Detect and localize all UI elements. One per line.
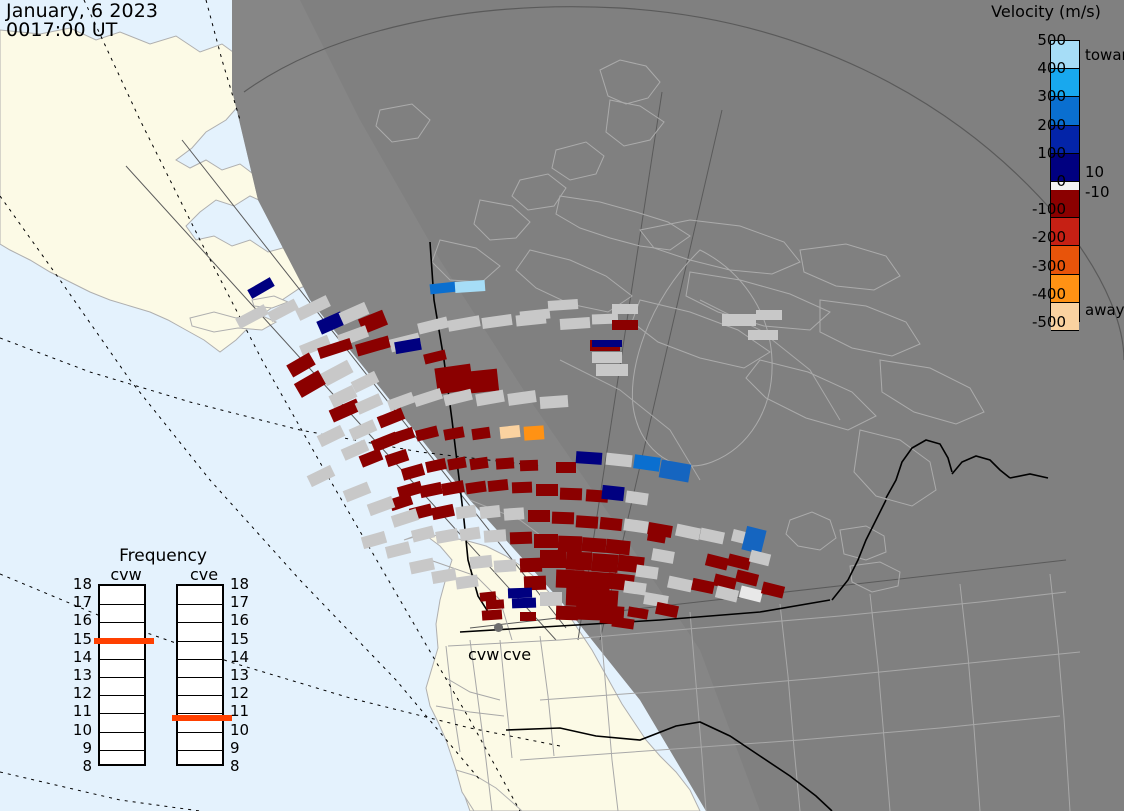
- colorbar-tick-label: 100: [1037, 144, 1066, 162]
- velocity-cell: [496, 457, 515, 469]
- frequency-gridline: [178, 622, 222, 623]
- frequency-tick-label: 12: [70, 684, 92, 702]
- frequency-tick-label: 15: [70, 630, 92, 648]
- velocity-cell: [596, 364, 628, 376]
- colorbar-toward-label: toward: [1085, 46, 1124, 64]
- velocity-cell: [479, 505, 500, 519]
- colorbar-tick-label: -200: [1032, 228, 1066, 246]
- frequency-gridline: [178, 641, 222, 642]
- colorbar-tick-label: -400: [1032, 285, 1066, 303]
- title-block: January, 6 2023 0017:00 UT: [6, 2, 158, 41]
- velocity-cell: [540, 592, 562, 606]
- frequency-gridline: [178, 659, 222, 660]
- velocity-cell: [556, 462, 576, 473]
- velocity-cell: [601, 485, 624, 501]
- colorbar-tick-label: 300: [1037, 87, 1066, 105]
- frequency-gridline: [178, 604, 222, 605]
- velocity-cell: [576, 515, 599, 529]
- velocity-cell: [520, 558, 542, 573]
- frequency-gridline: [100, 732, 144, 733]
- velocity-cell: [508, 588, 532, 599]
- velocity-cell: [612, 304, 638, 314]
- velocity-cell: [581, 571, 610, 591]
- frequency-title: Frequency: [88, 546, 238, 566]
- velocity-cell: [591, 553, 618, 573]
- velocity-cell: [605, 539, 630, 555]
- velocity-cell: [536, 484, 558, 496]
- frequency-tick-label: 10: [230, 721, 252, 739]
- radar-site-label-cvw: cvw: [468, 645, 499, 664]
- frequency-gridline: [100, 622, 144, 623]
- frequency-tick-label: 17: [230, 593, 252, 611]
- frequency-gridline: [100, 659, 144, 660]
- frequency-tick-label: 8: [230, 757, 252, 775]
- velocity-cell: [556, 606, 578, 621]
- colorbar-tick-label: 200: [1037, 116, 1066, 134]
- radar-site-dot: [494, 623, 503, 632]
- velocity-cell: [599, 517, 622, 531]
- colorbar-positive-threshold: 10: [1085, 163, 1104, 181]
- frequency-tick-label: 17: [70, 593, 92, 611]
- velocity-cell: [591, 589, 618, 607]
- velocity-cell: [756, 310, 782, 320]
- superdarn-velocity-map: January, 6 2023 0017:00 UT Velocity (m/s…: [0, 0, 1124, 811]
- velocity-cell: [540, 550, 566, 568]
- frequency-tick-label: 13: [230, 666, 252, 684]
- frequency-tick-label: 13: [70, 666, 92, 684]
- colorbar-tick-label: -500: [1032, 313, 1066, 331]
- velocity-cell: [556, 570, 585, 589]
- frequency-bar: [98, 584, 146, 766]
- velocity-cell: [494, 559, 517, 573]
- colorbar-tick-label: 500: [1037, 31, 1066, 49]
- velocity-cell: [558, 536, 583, 553]
- velocity-cell: [612, 320, 638, 330]
- velocity-cell: [499, 425, 520, 439]
- velocity-cell: [528, 510, 550, 522]
- frequency-gridline: [178, 732, 222, 733]
- velocity-cell: [510, 532, 532, 545]
- frequency-gridline: [100, 750, 144, 751]
- velocity-cell: [582, 537, 607, 553]
- frequency-tick-label: 18: [70, 575, 92, 593]
- frequency-tick-label: 15: [230, 630, 252, 648]
- frequency-gridline: [100, 604, 144, 605]
- frequency-tick-label: 8: [70, 757, 92, 775]
- velocity-cell: [520, 612, 536, 621]
- radar-site-label-cve: cve: [503, 645, 531, 664]
- velocity-cell: [548, 299, 579, 311]
- velocity-cell: [576, 451, 603, 465]
- frequency-column-cve: cve18171615141312111098: [176, 584, 224, 766]
- velocity-cell: [504, 507, 525, 520]
- frequency-column-label: cve: [176, 565, 232, 584]
- velocity-cell: [576, 604, 603, 621]
- frequency-tick-label: 14: [230, 648, 252, 666]
- velocity-cell: [566, 588, 595, 607]
- velocity-cell: [524, 425, 545, 440]
- velocity-cell: [512, 598, 536, 609]
- velocity-cell: [600, 613, 621, 625]
- velocity-cell: [540, 395, 569, 409]
- velocity-cell: [560, 488, 582, 501]
- velocity-colorbar: Velocity (m/s) 5004003002001000-100-200-…: [980, 0, 1124, 345]
- velocity-cell: [748, 330, 778, 340]
- frequency-tick-label: 14: [70, 648, 92, 666]
- velocity-cell: [480, 591, 497, 602]
- frequency-tick-label: 11: [70, 702, 92, 720]
- frequency-tick-label: 9: [230, 739, 252, 757]
- velocity-cell: [487, 479, 508, 492]
- colorbar-tick-label: -300: [1032, 257, 1066, 275]
- colorbar-away-label: away: [1085, 301, 1124, 319]
- frequency-gridline: [178, 677, 222, 678]
- velocity-cell: [534, 534, 558, 548]
- frequency-tick-label: 10: [70, 721, 92, 739]
- velocity-cell: [722, 314, 756, 326]
- frequency-gridline: [178, 750, 222, 751]
- velocity-cell: [520, 460, 538, 472]
- colorbar-negative-threshold: -10: [1085, 183, 1110, 201]
- colorbar-title: Velocity (m/s): [976, 2, 1116, 21]
- velocity-cell: [566, 552, 593, 571]
- frequency-marker: [172, 715, 232, 721]
- frequency-tick-label: 16: [70, 611, 92, 629]
- velocity-cell: [482, 609, 503, 620]
- frequency-gridline: [178, 695, 222, 696]
- velocity-cell: [469, 555, 492, 569]
- frequency-column-label: cvw: [98, 565, 154, 584]
- frequency-marker: [94, 638, 154, 644]
- frequency-tick-label: 16: [230, 611, 252, 629]
- frequency-tick-label: 11: [230, 702, 252, 720]
- colorbar-tick-label: -100: [1032, 200, 1066, 218]
- frequency-tick-label: 12: [230, 684, 252, 702]
- velocity-cell: [469, 369, 499, 394]
- colorbar-tick-label: 400: [1037, 59, 1066, 77]
- velocity-cell: [592, 352, 622, 363]
- velocity-cell: [592, 340, 622, 347]
- velocity-cell: [560, 317, 591, 330]
- frequency-bar: [176, 584, 224, 766]
- frequency-legend: Frequency cvw18171615141312111098cve1817…: [88, 546, 238, 791]
- velocity-cell: [484, 529, 507, 543]
- velocity-cell: [455, 280, 486, 293]
- frequency-gridline: [100, 713, 144, 714]
- map-time: 0017:00 UT: [6, 21, 158, 40]
- frequency-gridline: [100, 677, 144, 678]
- velocity-cell: [512, 482, 532, 494]
- frequency-column-cvw: cvw18171615141312111098: [98, 584, 146, 766]
- frequency-tick-label: 9: [70, 739, 92, 757]
- colorbar-tick-label: 0: [1056, 172, 1066, 190]
- frequency-tick-label: 18: [230, 575, 252, 593]
- frequency-gridline: [100, 695, 144, 696]
- velocity-cell: [552, 512, 574, 525]
